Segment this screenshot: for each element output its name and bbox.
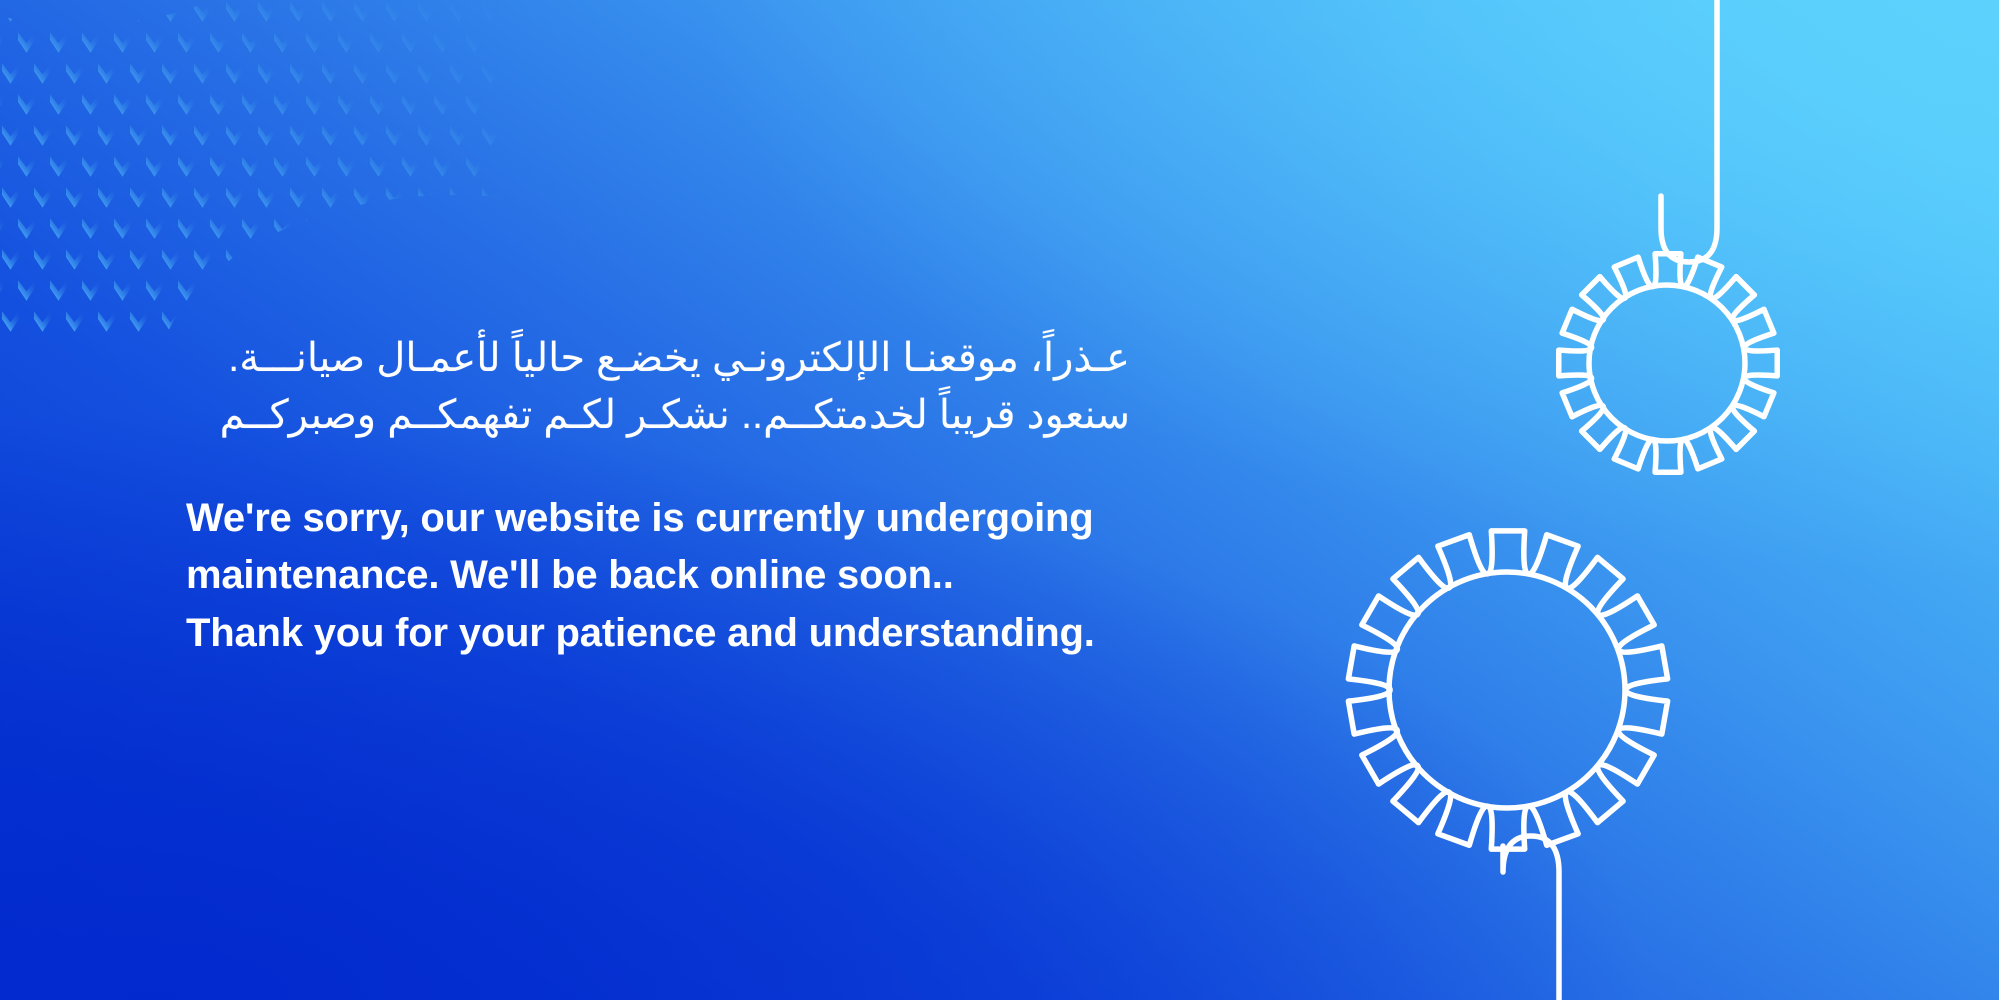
small-gear-hub — [1589, 285, 1745, 441]
message-block: عـذراً، موقعنـا الإلكترونـي يخضـع حالياً… — [186, 330, 1186, 662]
large-gear — [1348, 531, 1667, 849]
arabic-message: عـذراً، موقعنـا الإلكترونـي يخضـع حالياً… — [180, 330, 1130, 444]
english-line-2: maintenance. We'll be back online soon.. — [186, 547, 1186, 605]
chevron-grid — [0, 0, 499, 332]
chevron-pattern-decoration — [0, 0, 506, 350]
english-message: We're sorry, our website is currently un… — [186, 490, 1186, 663]
arabic-line-1: عـذراً، موقعنـا الإلكترونـي يخضـع حالياً… — [180, 330, 1130, 387]
english-line-3: Thank you for your patience and understa… — [186, 605, 1186, 663]
large-gear-hub — [1389, 572, 1625, 808]
maintenance-page: عـذراً، موقعنـا الإلكترونـي يخضـع حالياً… — [0, 0, 1999, 1000]
bottom-connector-line — [1503, 836, 1559, 1000]
english-line-1: We're sorry, our website is currently un… — [186, 490, 1186, 548]
small-gear — [1559, 254, 1777, 472]
top-connector-line — [1661, 0, 1717, 262]
arabic-line-2: سنعود قريباً لخدمتكــم.. نشكـر لكـم تفهم… — [180, 387, 1130, 444]
